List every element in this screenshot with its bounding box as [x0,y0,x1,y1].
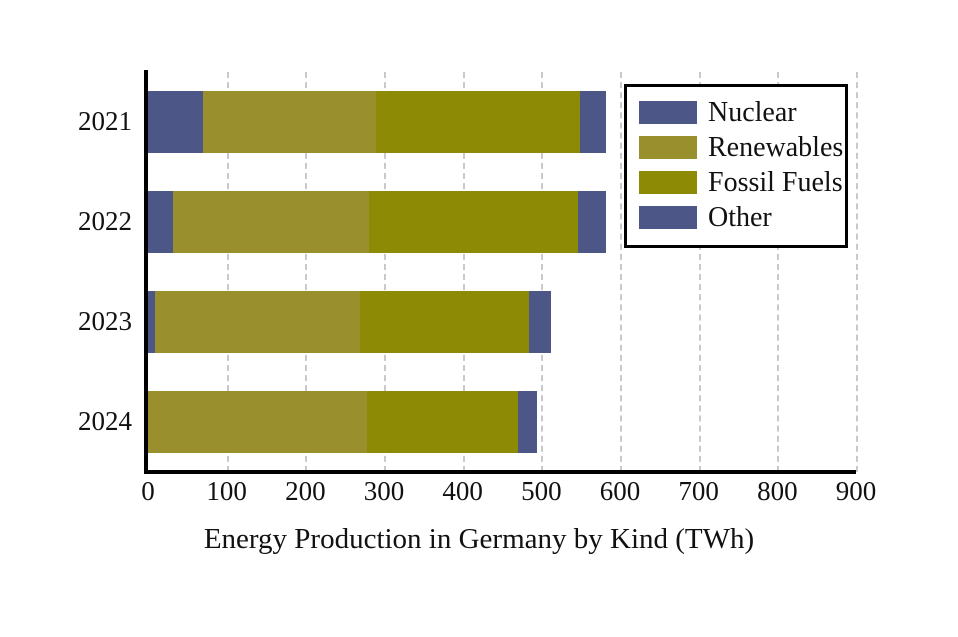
chart-figure: 2021202220232024 01002003004005006007008… [0,0,958,637]
bar-segment-renewables [173,191,369,253]
legend-label: Other [708,204,772,232]
legend-swatch-icon [639,136,697,159]
gridline [856,72,858,472]
x-tick-label-800: 800 [757,478,798,505]
legend-swatch-icon [639,101,697,124]
legend-swatch-icon [639,171,697,194]
bar-segment-renewables [155,291,360,353]
x-tick-label-200: 200 [285,478,326,505]
bar-segment-nuclear [148,291,155,353]
bar-segment-fossil-fuels [376,91,580,153]
bar-segment-other [529,291,551,353]
legend-label: Nuclear [708,99,797,127]
y-tick-label-2024: 2024 [0,408,132,435]
x-tick-label-600: 600 [600,478,641,505]
bar-2023 [148,291,551,353]
bar-segment-nuclear [148,191,173,253]
bar-segment-other [578,191,606,253]
legend-label: Renewables [708,134,843,162]
x-tick-label-100: 100 [206,478,247,505]
legend-item-nuclear[interactable]: Nuclear [639,95,835,130]
bar-segment-other [580,91,606,153]
bar-2021 [148,91,606,153]
x-tick-label-700: 700 [678,478,719,505]
bar-segment-fossil-fuels [360,291,528,353]
x-tick-label-300: 300 [364,478,405,505]
x-tick-label-0: 0 [141,478,155,505]
y-tick-label-2023: 2023 [0,308,132,335]
bar-2022 [148,191,606,253]
y-axis-line [144,70,148,474]
x-tick-label-900: 900 [836,478,877,505]
bar-segment-nuclear [148,91,203,153]
x-axis-title: Energy Production in Germany by Kind (TW… [0,522,958,557]
bar-segment-fossil-fuels [367,391,518,453]
legend-label: Fossil Fuels [708,169,843,197]
y-tick-label-2022: 2022 [0,208,132,235]
y-tick-label-2021: 2021 [0,108,132,135]
x-tick-label-500: 500 [521,478,562,505]
x-axis-tick-labels: 0100200300400500600700800900 [148,478,856,518]
legend-item-other[interactable]: Other [639,200,835,235]
bar-segment-other [518,391,538,453]
bar-segment-fossil-fuels [369,191,577,253]
legend-item-renewables[interactable]: Renewables [639,130,835,165]
legend: NuclearRenewablesFossil FuelsOther [624,84,848,248]
bar-2024 [148,391,537,453]
gridline [620,72,622,472]
x-tick-label-400: 400 [442,478,483,505]
x-axis-line [144,470,856,474]
legend-swatch-icon [639,206,697,229]
y-axis-tick-labels: 2021202220232024 [0,72,132,472]
bar-segment-renewables [148,391,367,453]
bar-segment-renewables [203,91,376,153]
legend-item-fossil-fuels[interactable]: Fossil Fuels [639,165,835,200]
